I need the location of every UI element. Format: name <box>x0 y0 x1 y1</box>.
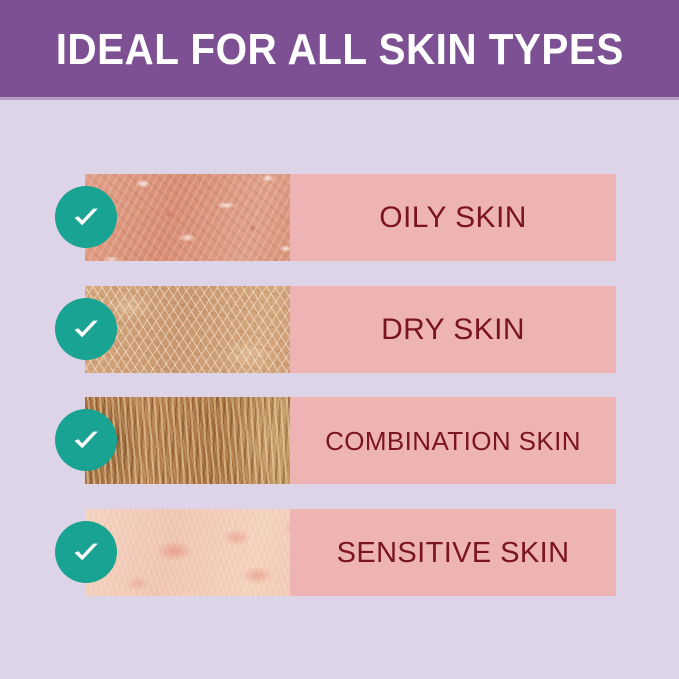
list-item: OILY SKIN <box>85 174 616 261</box>
page-title: IDEAL FOR ALL SKIN TYPES <box>55 28 623 72</box>
row-label-area: COMBINATION SKIN <box>290 397 616 484</box>
check-circle-icon <box>55 186 117 248</box>
list-item: COMBINATION SKIN <box>85 397 616 484</box>
skin-type-list: OILY SKIN DRY SKIN <box>0 100 679 679</box>
list-item: DRY SKIN <box>85 286 616 373</box>
check-circle-icon <box>55 409 117 471</box>
list-item: SENSITIVE SKIN <box>85 509 616 596</box>
skin-type-label: SENSITIVE SKIN <box>337 536 570 570</box>
row-label-area: DRY SKIN <box>290 286 616 373</box>
row-label-area: SENSITIVE SKIN <box>290 509 616 596</box>
skin-type-label: COMBINATION SKIN <box>325 424 581 458</box>
skin-type-label: OILY SKIN <box>379 201 527 235</box>
skin-types-infographic: IDEAL FOR ALL SKIN TYPES OILY SKIN <box>0 0 679 679</box>
skin-type-label: DRY SKIN <box>381 313 525 347</box>
check-circle-icon <box>55 298 117 360</box>
row-label-area: OILY SKIN <box>290 174 616 261</box>
check-circle-icon <box>55 521 117 583</box>
header-banner: IDEAL FOR ALL SKIN TYPES <box>0 0 679 97</box>
